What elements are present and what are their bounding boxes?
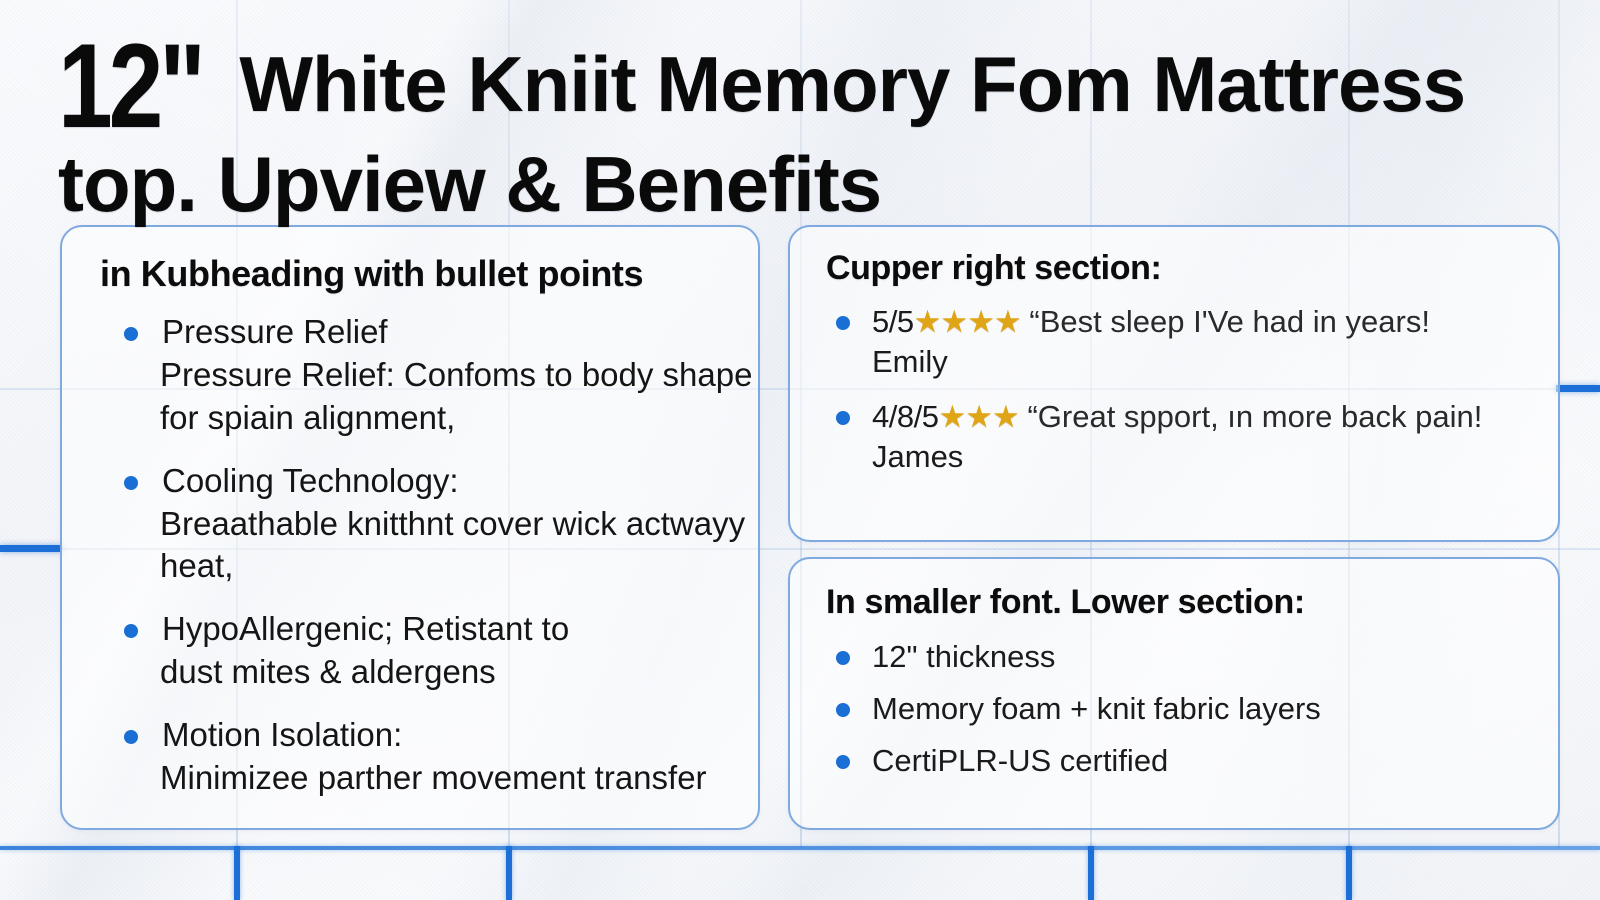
star-rating-icon: ★★★★ (914, 304, 1021, 339)
review-quote: “Best sleep I'Ve had in years! (1029, 304, 1430, 339)
review-rating: 4/8/5 (872, 399, 938, 434)
list-item: CertiPLR-US certified (836, 742, 1558, 781)
review-author: Emily (872, 342, 1558, 382)
bullet-dot-icon (836, 316, 850, 330)
bullet-dot-icon (836, 651, 850, 665)
review-rating: 5/5 (872, 304, 914, 339)
bullet-dot-icon (124, 730, 138, 744)
list-item: HypoAllergenic; Retistant to dust mites … (124, 608, 758, 694)
list-item: Pressure Relief Pressure Relief: Confoms… (124, 311, 758, 440)
reviews-card-heading: Cupper right section: (790, 227, 1558, 288)
list-item: 4/8/5★★★ “Great spport, ın more back pai… (836, 397, 1558, 476)
list-item: 12" thickness (836, 638, 1558, 677)
grid-line-bottom-vertical (506, 846, 512, 900)
features-card: in Kubheading with bullet points Pressur… (60, 225, 760, 830)
feature-description: Breaathable knitthnt cover wick actwayy … (160, 503, 758, 589)
bullet-dot-icon (836, 411, 850, 425)
reviews-bullet-list: 5/5★★★★ “Best sleep I'Ve had in years! E… (790, 288, 1558, 477)
title-measurement: 12" (58, 28, 202, 146)
title-rest: White Kniit Memory Fom Mattress top. Upv… (58, 40, 1465, 228)
grid-line-bottom-vertical (234, 846, 240, 900)
review-author: James (872, 437, 1558, 477)
list-item: Motion Isolation: Minimizee parther move… (124, 714, 758, 800)
grid-line-bottom-vertical (1346, 846, 1352, 900)
grid-line-bottom-vertical (1088, 846, 1094, 900)
bullet-dot-icon (124, 624, 138, 638)
specs-card-heading: In smaller font. Lower section: (790, 559, 1558, 622)
specs-card: In smaller font. Lower section: 12" thic… (788, 557, 1560, 830)
feature-description: Minimizee parther movement transfer (160, 757, 758, 800)
spec-text: CertiPLR-US certified (872, 743, 1168, 778)
header: 12"White Kniit Memory Fom Mattress top. … (58, 28, 1538, 222)
accent-line-left (0, 545, 62, 552)
list-item: 5/5★★★★ “Best sleep I'Ve had in years! E… (836, 302, 1558, 381)
bullet-dot-icon (836, 703, 850, 717)
grid-baseline-horizontal (0, 846, 1600, 850)
reviews-card: Cupper right section: 5/5★★★★ “Best slee… (788, 225, 1560, 542)
features-card-heading: in Kubheading with bullet points (62, 227, 758, 295)
feature-description: dust mites & aldergens (160, 651, 758, 694)
bullet-dot-icon (124, 327, 138, 341)
accent-line-right (1556, 385, 1600, 392)
feature-term: Motion Isolation: (162, 714, 758, 757)
page-title: 12"White Kniit Memory Fom Mattress top. … (58, 28, 1538, 222)
list-item: Memory foam + knit fabric layers (836, 690, 1558, 729)
feature-description: Pressure Relief: Confoms to body shape f… (160, 354, 758, 440)
list-item: Cooling Technology: Breaathable knitthnt… (124, 460, 758, 589)
feature-term: Pressure Relief (162, 311, 758, 354)
bullet-dot-icon (836, 755, 850, 769)
feature-term: HypoAllergenic; Retistant to (162, 608, 758, 651)
spec-text: Memory foam + knit fabric layers (872, 691, 1321, 726)
bullet-dot-icon (124, 476, 138, 490)
features-bullet-list: Pressure Relief Pressure Relief: Confoms… (62, 295, 758, 800)
infographic-canvas: 12"White Kniit Memory Fom Mattress top. … (0, 0, 1600, 900)
spec-text: 12" thickness (872, 639, 1055, 674)
feature-term: Cooling Technology: (162, 460, 758, 503)
review-quote: “Great spport, ın more back pain! (1027, 399, 1482, 434)
star-rating-icon: ★★★ (938, 399, 1018, 434)
specs-bullet-list: 12" thickness Memory foam + knit fabric … (790, 622, 1558, 780)
